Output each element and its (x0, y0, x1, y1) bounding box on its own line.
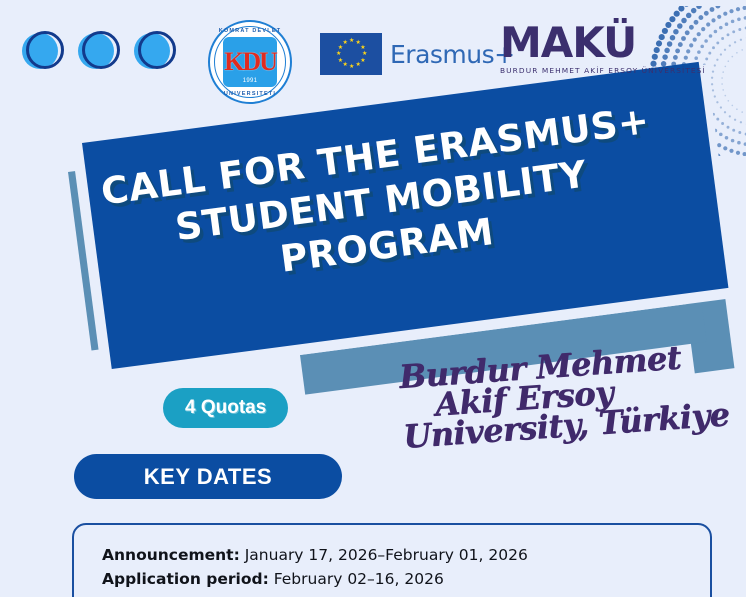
maku-subtitle: BURDUR MEHMET AKİF ERSOY ÜNİVERSİTESİ (500, 66, 706, 75)
date-label: Application period: (102, 570, 269, 588)
eu-star-icon: ★ (336, 52, 340, 56)
eu-star-icon: ★ (356, 41, 360, 45)
eu-star-icon: ★ (349, 39, 353, 43)
maku-university-logo: MAKÜ BURDUR MEHMET AKİF ERSOY ÜNİVERSİTE… (500, 22, 706, 75)
eu-star-icon: ★ (338, 59, 342, 63)
kdu-arc-bottom-text: UNIVERSITETI (208, 91, 292, 97)
maku-acronym: MAKÜ (500, 22, 706, 64)
decor-circles (22, 31, 174, 71)
kdu-university-logo: KOMRAT DEVLET KDU 1991 UNIVERSITETI (208, 20, 292, 104)
eu-star-icon: ★ (349, 65, 353, 69)
circle-icon (78, 31, 118, 71)
eu-star-icon: ★ (343, 41, 347, 45)
eu-star-icon: ★ (360, 46, 364, 50)
eu-star-icon: ★ (362, 52, 366, 56)
date-label: Announcement: (102, 546, 240, 564)
eu-star-icon: ★ (343, 63, 347, 67)
key-dates-button[interactable]: KEY DATES (74, 454, 342, 499)
eu-star-icon: ★ (356, 63, 360, 67)
circle-icon (22, 31, 62, 71)
date-value: January 17, 2026–February 01, 2026 (240, 546, 528, 564)
date-row: Application period: February 02–16, 2026 (102, 567, 710, 591)
erasmus-plus-wordmark: Erasmus+ (390, 40, 515, 69)
kdu-arc-top-text: KOMRAT DEVLET (208, 28, 292, 34)
circle-icon (134, 31, 174, 71)
european-union-flag-icon: ★★★★★★★★★★★★ (320, 33, 382, 75)
quotas-badge: 4 Quotas (163, 388, 288, 428)
eu-star-icon: ★ (338, 46, 342, 50)
key-dates-info-box: Announcement: January 17, 2026–February … (72, 523, 712, 597)
erasmus-plus-logo: ★★★★★★★★★★★★ Erasmus+ (320, 33, 515, 75)
university-script-text: Burdur Mehmet Akif Ersoy University, Tür… (398, 339, 730, 452)
date-value: February 02–16, 2026 (269, 570, 444, 588)
kdu-year: 1991 (237, 78, 263, 84)
poster-canvas: KOMRAT DEVLET KDU 1991 UNIVERSITETI ★★★★… (0, 0, 746, 597)
date-row: Announcement: January 17, 2026–February … (102, 543, 710, 567)
